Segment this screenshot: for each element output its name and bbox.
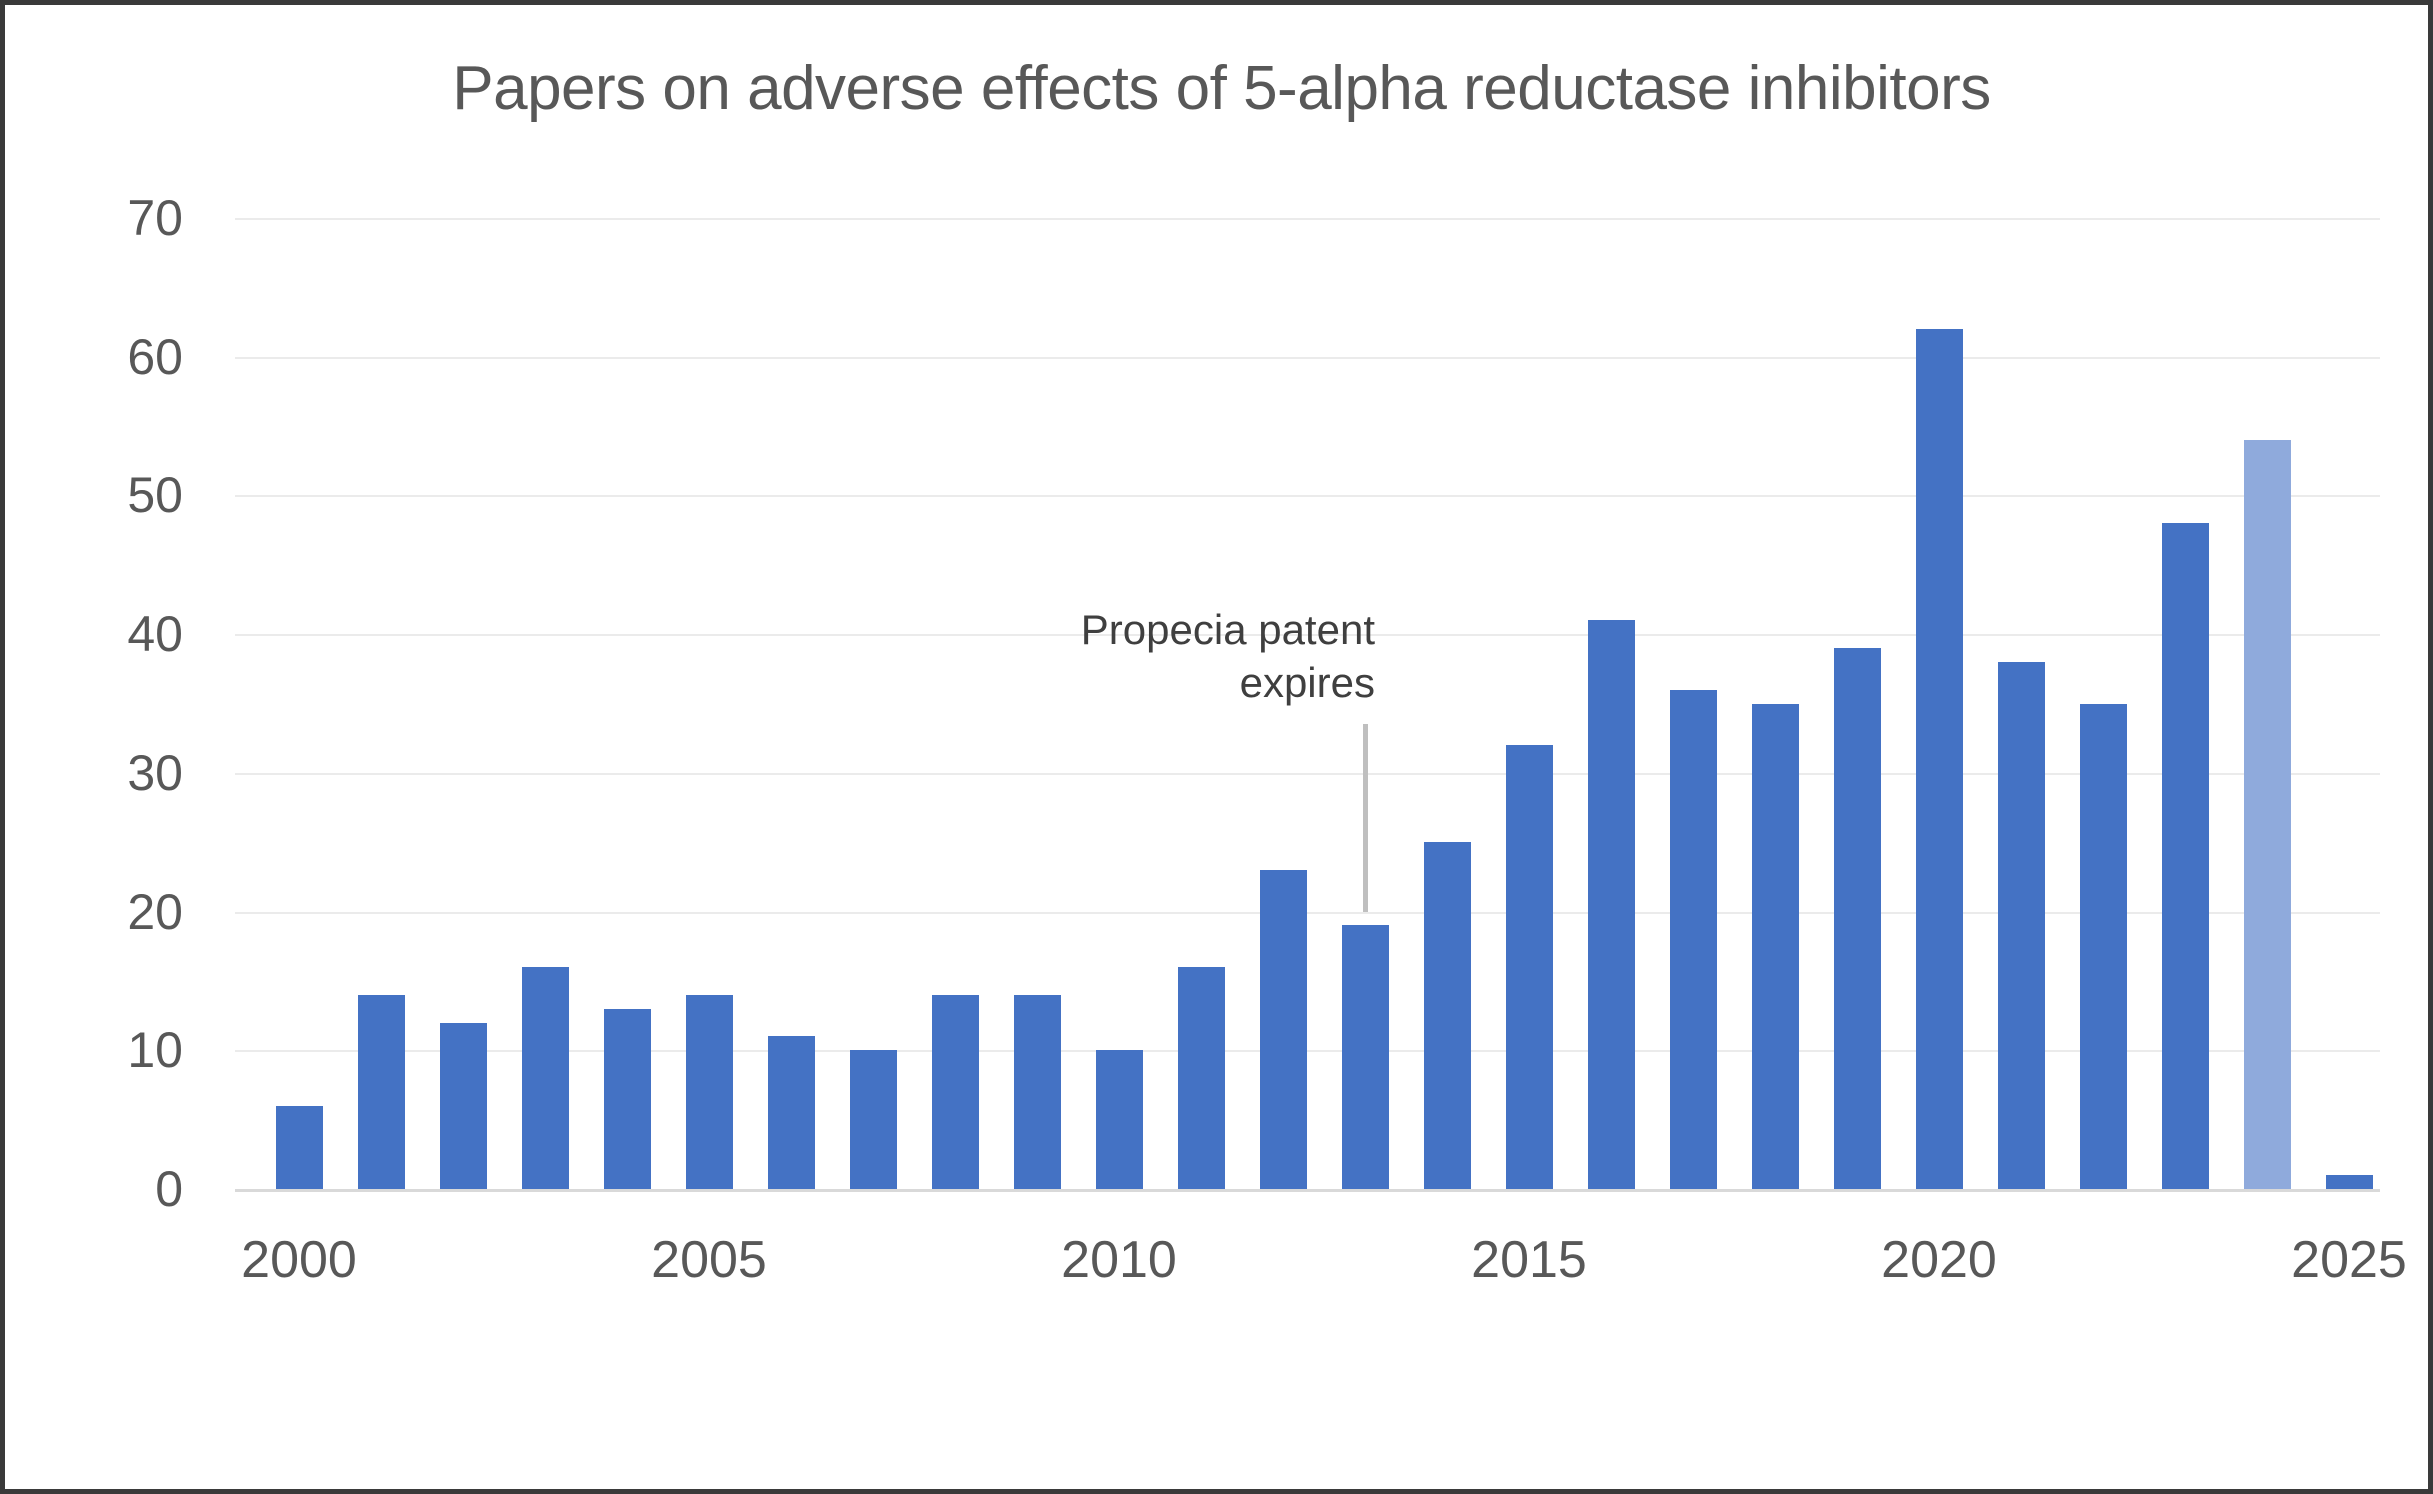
bar[interactable] (1178, 967, 1225, 1189)
bar[interactable] (1424, 842, 1471, 1189)
y-axis-tick-label: 40 (0, 605, 183, 663)
bar[interactable] (358, 995, 405, 1189)
bar[interactable] (522, 967, 569, 1189)
bar[interactable] (1342, 925, 1389, 1189)
annotation-label: Propecia patent expires (955, 604, 1375, 709)
bar[interactable] (276, 1106, 323, 1189)
x-axis-tick-label: 2000 (241, 1230, 357, 1290)
axis-baseline (235, 1189, 2380, 1192)
bar[interactable] (2244, 440, 2291, 1189)
y-axis-tick-label: 30 (0, 744, 183, 802)
gridline (235, 912, 2380, 914)
bar[interactable] (932, 995, 979, 1189)
bar[interactable] (1588, 620, 1635, 1189)
annotation-leader-line (1363, 724, 1368, 911)
bar[interactable] (1916, 329, 1963, 1189)
bar[interactable] (850, 1050, 897, 1189)
y-axis-tick-label: 60 (0, 328, 183, 386)
chart-title: Papers on adverse effects of 5-alpha red… (5, 53, 2433, 124)
bar[interactable] (768, 1036, 815, 1189)
gridline (235, 773, 2380, 775)
bar[interactable] (2326, 1175, 2373, 1189)
y-axis-tick-label: 10 (0, 1021, 183, 1079)
x-axis-tick-label: 2015 (1471, 1230, 1587, 1290)
bar[interactable] (686, 995, 733, 1189)
y-axis-tick-label: 0 (0, 1160, 183, 1218)
gridline (235, 495, 2380, 497)
bar[interactable] (604, 1009, 651, 1189)
x-axis-tick-label: 2025 (2291, 1230, 2407, 1290)
x-axis-tick-label: 2020 (1881, 1230, 1997, 1290)
bar[interactable] (440, 1023, 487, 1189)
y-axis-tick-label: 20 (0, 883, 183, 941)
chart-figure: Papers on adverse effects of 5-alpha red… (0, 0, 2433, 1494)
x-axis-tick-label: 2005 (651, 1230, 767, 1290)
bar[interactable] (1752, 704, 1799, 1190)
x-axis-tick-label: 2010 (1061, 1230, 1177, 1290)
bar[interactable] (1096, 1050, 1143, 1189)
gridline (235, 357, 2380, 359)
y-axis-tick-label: 50 (0, 466, 183, 524)
bar[interactable] (1834, 648, 1881, 1189)
y-axis-tick-label: 70 (0, 189, 183, 247)
bar[interactable] (2080, 704, 2127, 1190)
bar[interactable] (1260, 870, 1307, 1189)
bar[interactable] (1014, 995, 1061, 1189)
gridline (235, 218, 2380, 220)
bar[interactable] (1998, 662, 2045, 1189)
bar[interactable] (1670, 690, 1717, 1189)
bar[interactable] (2162, 523, 2209, 1189)
bar[interactable] (1506, 745, 1553, 1189)
